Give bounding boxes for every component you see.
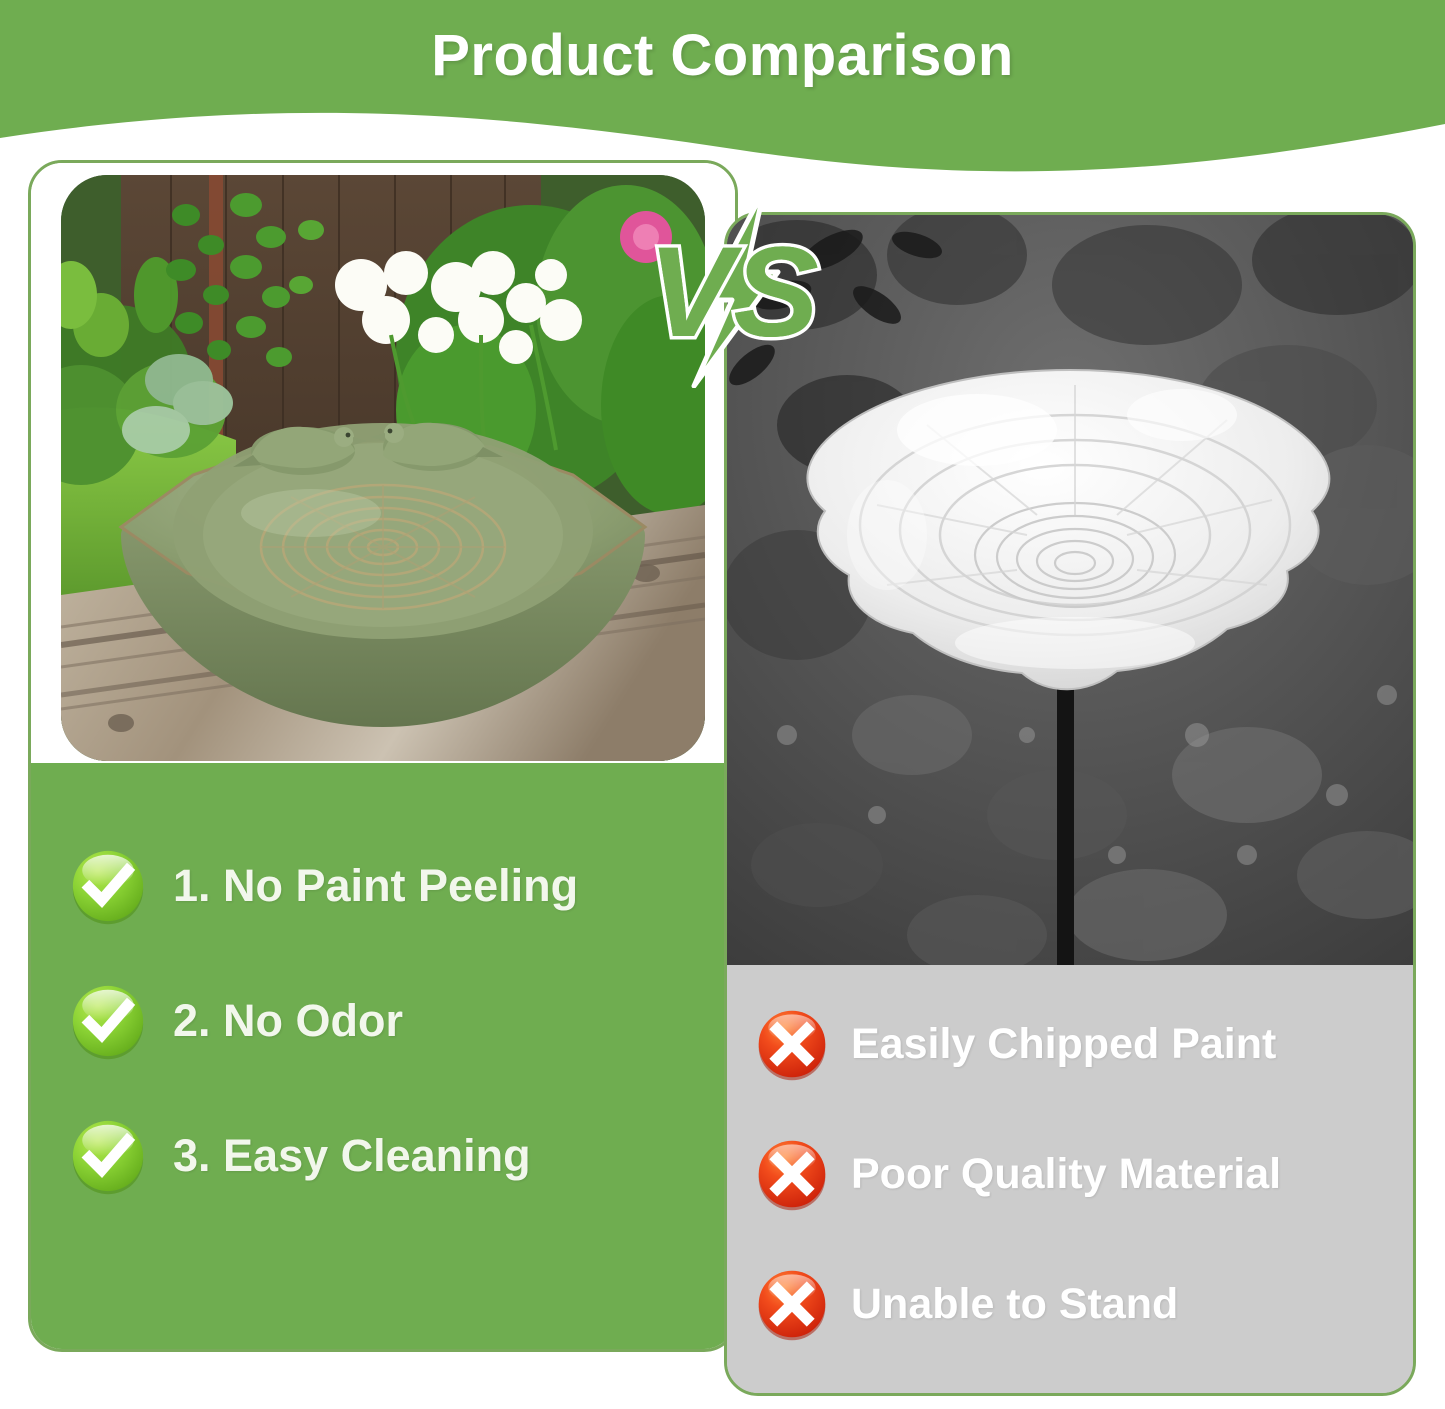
x-circle-icon: [755, 1137, 829, 1211]
check-circle-icon: [69, 982, 147, 1060]
page-title: Product Comparison: [0, 22, 1445, 89]
left-product-panel: 1. No Paint Peeling 2. No Odor: [28, 160, 738, 1352]
list-item-label: 3. Easy Cleaning: [173, 1130, 531, 1182]
left-photo-frame: [31, 163, 735, 763]
list-item-label: 1. No Paint Peeling: [173, 860, 578, 912]
x-circle-icon: [755, 1267, 829, 1341]
list-item: 1. No Paint Peeling: [69, 845, 578, 927]
glass-birdbath-photo-illustration: [727, 215, 1413, 965]
list-item-label: Poor Quality Material: [851, 1150, 1281, 1199]
vs-badge: VS VS: [636, 188, 826, 388]
list-item: 3. Easy Cleaning: [69, 1115, 531, 1197]
list-item-label: Easily Chipped Paint: [851, 1020, 1276, 1069]
x-circle-icon: [755, 1007, 829, 1081]
stake-pole: [1057, 685, 1074, 965]
list-item: Unable to Stand: [755, 1263, 1178, 1345]
list-item: Poor Quality Material: [755, 1133, 1281, 1215]
header-band: Product Comparison: [0, 0, 1445, 175]
check-circle-icon: [69, 1117, 147, 1195]
list-item: Easily Chipped Paint: [755, 1003, 1276, 1085]
svg-text:VS: VS: [648, 221, 819, 364]
left-product-photo: [61, 175, 705, 761]
list-item-label: 2. No Odor: [173, 995, 403, 1047]
ceramic-birdbath-photo-illustration: [61, 175, 705, 761]
check-circle-icon: [69, 847, 147, 925]
right-product-photo: [727, 215, 1413, 965]
list-item: 2. No Odor: [69, 980, 403, 1062]
left-benefits-list: 1. No Paint Peeling 2. No Odor: [31, 763, 735, 1352]
right-drawbacks-list: Easily Chipped Paint Poor Quality Materi…: [727, 965, 1413, 1393]
right-product-panel: Easily Chipped Paint Poor Quality Materi…: [724, 212, 1416, 1396]
list-item-label: Unable to Stand: [851, 1280, 1178, 1329]
